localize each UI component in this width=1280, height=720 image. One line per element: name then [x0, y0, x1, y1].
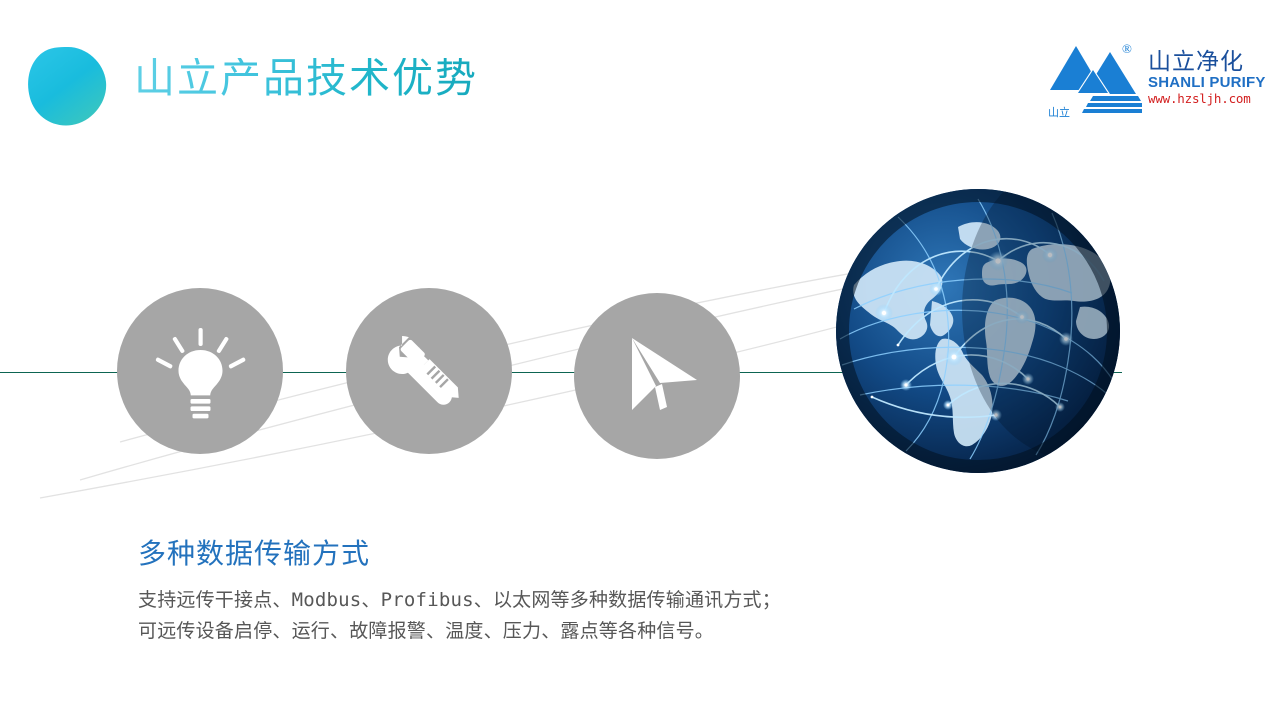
caption-line: 可远传设备启停、运行、故障报警、温度、压力、露点等各种信号。 — [138, 616, 878, 647]
lightbulb-icon — [148, 319, 252, 423]
logo-website-url: www.hzsljh.com — [1148, 91, 1266, 106]
icon-circle-cursor[interactable] — [574, 293, 740, 459]
company-logo: ® 山立 山立净化 SHANLI PURIFY www.hzsljh.com — [1046, 38, 1264, 122]
graphic-band — [0, 180, 1280, 520]
cursor-arrow-icon — [605, 324, 709, 428]
icon-circle-tools[interactable] — [346, 288, 512, 454]
registered-trademark-symbol: ® — [1122, 41, 1132, 57]
caption-block: 多种数据传输方式 支持远传干接点、Modbus、Profibus、以太网等多种数… — [138, 536, 878, 647]
logo-company-name-en: SHANLI PURIFY — [1148, 75, 1266, 92]
decorative-blob-shape — [26, 46, 108, 126]
globe-network-image — [836, 189, 1120, 473]
logo-mark-caption: 山立 — [1048, 104, 1070, 120]
logo-company-name-cn: 山立净化 — [1148, 50, 1266, 75]
caption-line: 支持远传干接点、Modbus、Profibus、以太网等多种数据传输通讯方式； — [138, 585, 878, 616]
caption-heading: 多种数据传输方式 — [138, 536, 878, 571]
page-title: 山立产品技术优势 — [134, 58, 478, 99]
icon-circle-lightbulb[interactable] — [117, 288, 283, 454]
slide-canvas: 山立产品技术优势 ® 山立 山立净化 SHANLI PURIF — [0, 0, 1280, 720]
tools-icon — [377, 319, 481, 423]
logo-wordmark: 山立净化 SHANLI PURIFY www.hzsljh.com — [1148, 50, 1266, 106]
